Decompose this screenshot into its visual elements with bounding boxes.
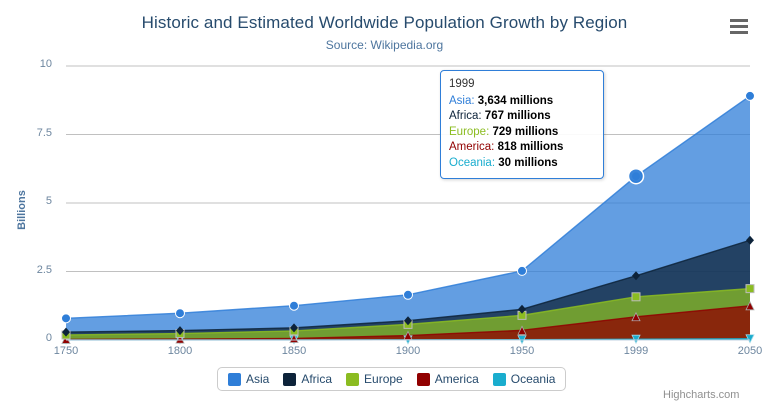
highcharts-container: Historic and Estimated Worldwide Populat… xyxy=(0,0,769,416)
legend-swatch-asia xyxy=(228,373,241,386)
legend-label: Asia xyxy=(246,372,269,386)
tooltip-series-value: 767 millions xyxy=(485,110,551,122)
legend-item-europe[interactable]: Europe xyxy=(346,372,403,386)
tooltip-series-name: Oceania: xyxy=(449,157,498,169)
y-tick-label: 10 xyxy=(12,58,52,70)
legend-label: Africa xyxy=(301,372,332,386)
tooltip-row-oceania: Oceania: 30 millions xyxy=(449,156,595,172)
y-tick-label: 2.5 xyxy=(12,264,52,276)
y-tick-label: 5 xyxy=(12,195,52,207)
legend: AsiaAfricaEuropeAmericaOceania xyxy=(217,367,566,391)
legend-swatch-oceania xyxy=(493,373,506,386)
y-axis-title: Billions xyxy=(16,180,28,240)
legend-swatch-africa xyxy=(283,373,296,386)
legend-swatch-america xyxy=(417,373,430,386)
x-tick-label: 1750 xyxy=(36,345,96,357)
x-tick-label: 2050 xyxy=(720,345,769,357)
data-point-asia-1800 xyxy=(176,309,185,318)
hovered-point-asia-1999 xyxy=(629,169,644,184)
tooltip-row-africa: Africa: 767 millions xyxy=(449,109,595,125)
data-point-asia-1950 xyxy=(518,266,527,275)
tooltip-series-value: 818 millions xyxy=(498,141,564,153)
tooltip-row-europe: Europe: 729 millions xyxy=(449,125,595,141)
x-tick-label: 1900 xyxy=(378,345,438,357)
tooltip-series-name: Asia: xyxy=(449,95,478,107)
legend-item-oceania[interactable]: Oceania xyxy=(493,372,556,386)
x-tick-label: 1800 xyxy=(150,345,210,357)
legend-item-america[interactable]: America xyxy=(417,372,479,386)
data-point-europe-2050 xyxy=(746,285,754,293)
tooltip-series-name: Africa: xyxy=(449,110,485,122)
tooltip-series-value: 30 millions xyxy=(498,157,557,169)
data-point-europe-1999 xyxy=(632,293,640,301)
legend-swatch-europe xyxy=(346,373,359,386)
tooltip-rows: Asia: 3,634 millionsAfrica: 767 millions… xyxy=(449,94,595,172)
credits-label[interactable]: Highcharts.com xyxy=(663,389,739,401)
data-point-asia-2050 xyxy=(746,91,755,100)
tooltip-series-value: 3,634 millions xyxy=(478,95,553,107)
tooltip-row-asia: Asia: 3,634 millions xyxy=(449,94,595,110)
tooltip-header: 1999 xyxy=(449,77,595,93)
tooltip-series-value: 729 millions xyxy=(492,126,558,138)
tooltip-series-name: Europe: xyxy=(449,126,492,138)
tooltip-row-america: America: 818 millions xyxy=(449,140,595,156)
data-point-asia-1850 xyxy=(290,301,299,310)
x-tick-label: 1850 xyxy=(264,345,324,357)
y-tick-label: 0 xyxy=(12,332,52,344)
y-tick-label: 7.5 xyxy=(12,127,52,139)
legend-label: Europe xyxy=(364,372,403,386)
legend-item-africa[interactable]: Africa xyxy=(283,372,332,386)
legend-label: America xyxy=(435,372,479,386)
data-point-asia-1900 xyxy=(404,290,413,299)
tooltip: 1999 Asia: 3,634 millionsAfrica: 767 mil… xyxy=(440,70,604,179)
x-tick-label: 1999 xyxy=(606,345,666,357)
x-tick-label: 1950 xyxy=(492,345,552,357)
data-point-asia-1750 xyxy=(62,314,71,323)
legend-item-asia[interactable]: Asia xyxy=(228,372,269,386)
legend-label: Oceania xyxy=(511,372,556,386)
tooltip-series-name: America: xyxy=(449,141,498,153)
